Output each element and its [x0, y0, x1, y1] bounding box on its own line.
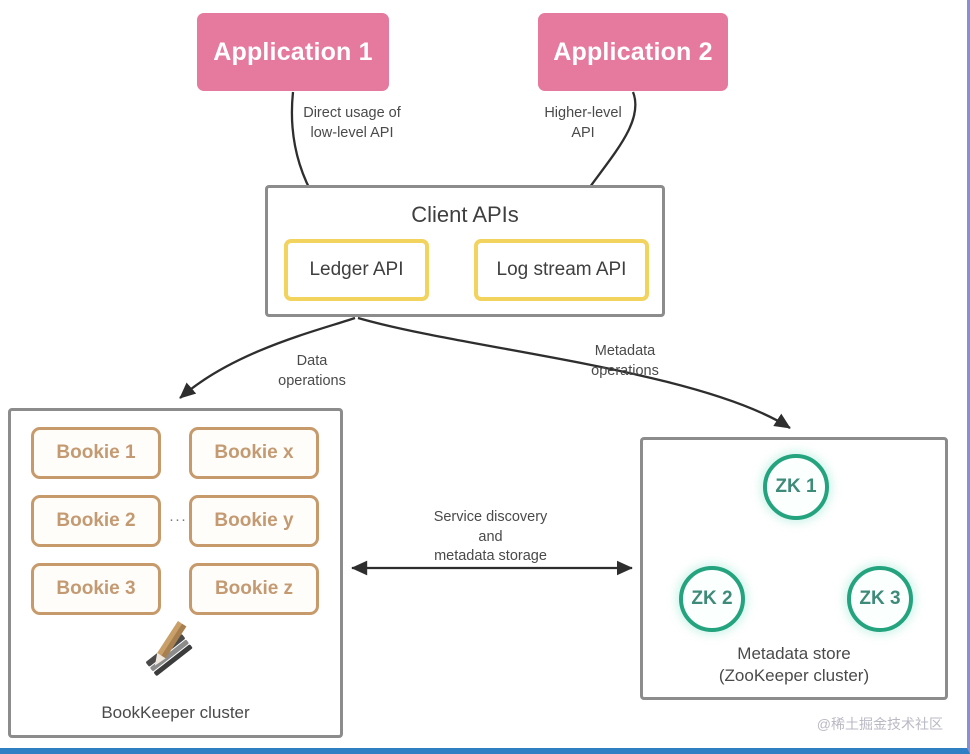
zookeeper-node-label: ZK 2 — [691, 588, 732, 610]
client-apis-container: Client APIs Ledger API Log stream API — [265, 185, 665, 317]
bookkeeper-cluster-container: Bookie 1 Bookie 2 Bookie 3 Bookie x Book… — [8, 408, 343, 738]
zookeeper-node-label: ZK 1 — [775, 476, 816, 498]
label-higher-level-line2: API — [533, 124, 633, 144]
watermark: @稀土掘金技术社区 — [817, 714, 943, 734]
label-metadata-operations-line1: Metadata — [575, 342, 675, 362]
ledger-api-label: Ledger API — [309, 259, 403, 281]
bookie-label: Bookie x — [214, 442, 293, 464]
zookeeper-cluster-caption-line2: (ZooKeeper cluster) — [643, 666, 945, 686]
zookeeper-node[interactable]: ZK 1 — [763, 454, 829, 520]
arrow-client-to-zookeeper — [358, 318, 790, 428]
label-data-operations: Data operations — [262, 352, 362, 391]
bookie-label: Bookie 3 — [56, 578, 135, 600]
diagram-canvas: Application 1 Application 2 Client APIs … — [0, 0, 970, 754]
bookie-box[interactable]: Bookie 2 — [31, 495, 161, 547]
application-2-label: Application 2 — [553, 38, 713, 67]
zookeeper-node[interactable]: ZK 3 — [847, 566, 913, 632]
log-stream-api-label: Log stream API — [497, 259, 627, 281]
bookie-box[interactable]: Bookie y — [189, 495, 319, 547]
bookie-label: Bookie z — [215, 578, 293, 600]
label-direct-usage-line1: Direct usage of — [292, 104, 412, 124]
label-service-discovery-line3: metadata storage — [408, 547, 573, 567]
label-direct-usage: Direct usage of low-level API — [292, 104, 412, 143]
bookie-box[interactable]: Bookie 1 — [31, 427, 161, 479]
bookkeeper-cluster-caption: BookKeeper cluster — [11, 703, 340, 723]
label-metadata-operations-line2: operations — [575, 362, 675, 382]
label-service-discovery-line1: Service discovery — [408, 508, 573, 528]
bookie-box[interactable]: Bookie z — [189, 563, 319, 615]
label-higher-level-api: Higher-level API — [533, 104, 633, 143]
zookeeper-node-label: ZK 3 — [859, 588, 900, 610]
label-service-discovery-line2: and — [408, 528, 573, 548]
label-direct-usage-line2: low-level API — [292, 124, 412, 144]
bookie-box[interactable]: Bookie x — [189, 427, 319, 479]
label-higher-level-line1: Higher-level — [533, 104, 633, 124]
bookies-ellipsis: ··· — [166, 511, 190, 528]
zookeeper-node[interactable]: ZK 2 — [679, 566, 745, 632]
label-service-discovery: Service discovery and metadata storage — [408, 508, 573, 567]
label-metadata-operations: Metadata operations — [575, 342, 675, 381]
application-1-box[interactable]: Application 1 — [197, 13, 389, 91]
application-1-label: Application 1 — [213, 38, 373, 67]
bookie-label: Bookie 1 — [56, 442, 135, 464]
label-data-operations-line2: operations — [262, 372, 362, 392]
ledger-api-box[interactable]: Ledger API — [284, 239, 429, 301]
bookie-label: Bookie y — [214, 510, 293, 532]
label-data-operations-line1: Data — [262, 352, 362, 372]
quill-pen-icon — [128, 612, 218, 682]
zookeeper-cluster-caption-line1: Metadata store — [643, 644, 945, 664]
bookie-box[interactable]: Bookie 3 — [31, 563, 161, 615]
bookie-label: Bookie 2 — [56, 510, 135, 532]
log-stream-api-box[interactable]: Log stream API — [474, 239, 649, 301]
zookeeper-cluster-container: ZK 1 ZK 2 ZK 3 Metadata store (ZooKeeper… — [640, 437, 948, 700]
application-2-box[interactable]: Application 2 — [538, 13, 728, 91]
client-apis-title: Client APIs — [268, 202, 662, 228]
